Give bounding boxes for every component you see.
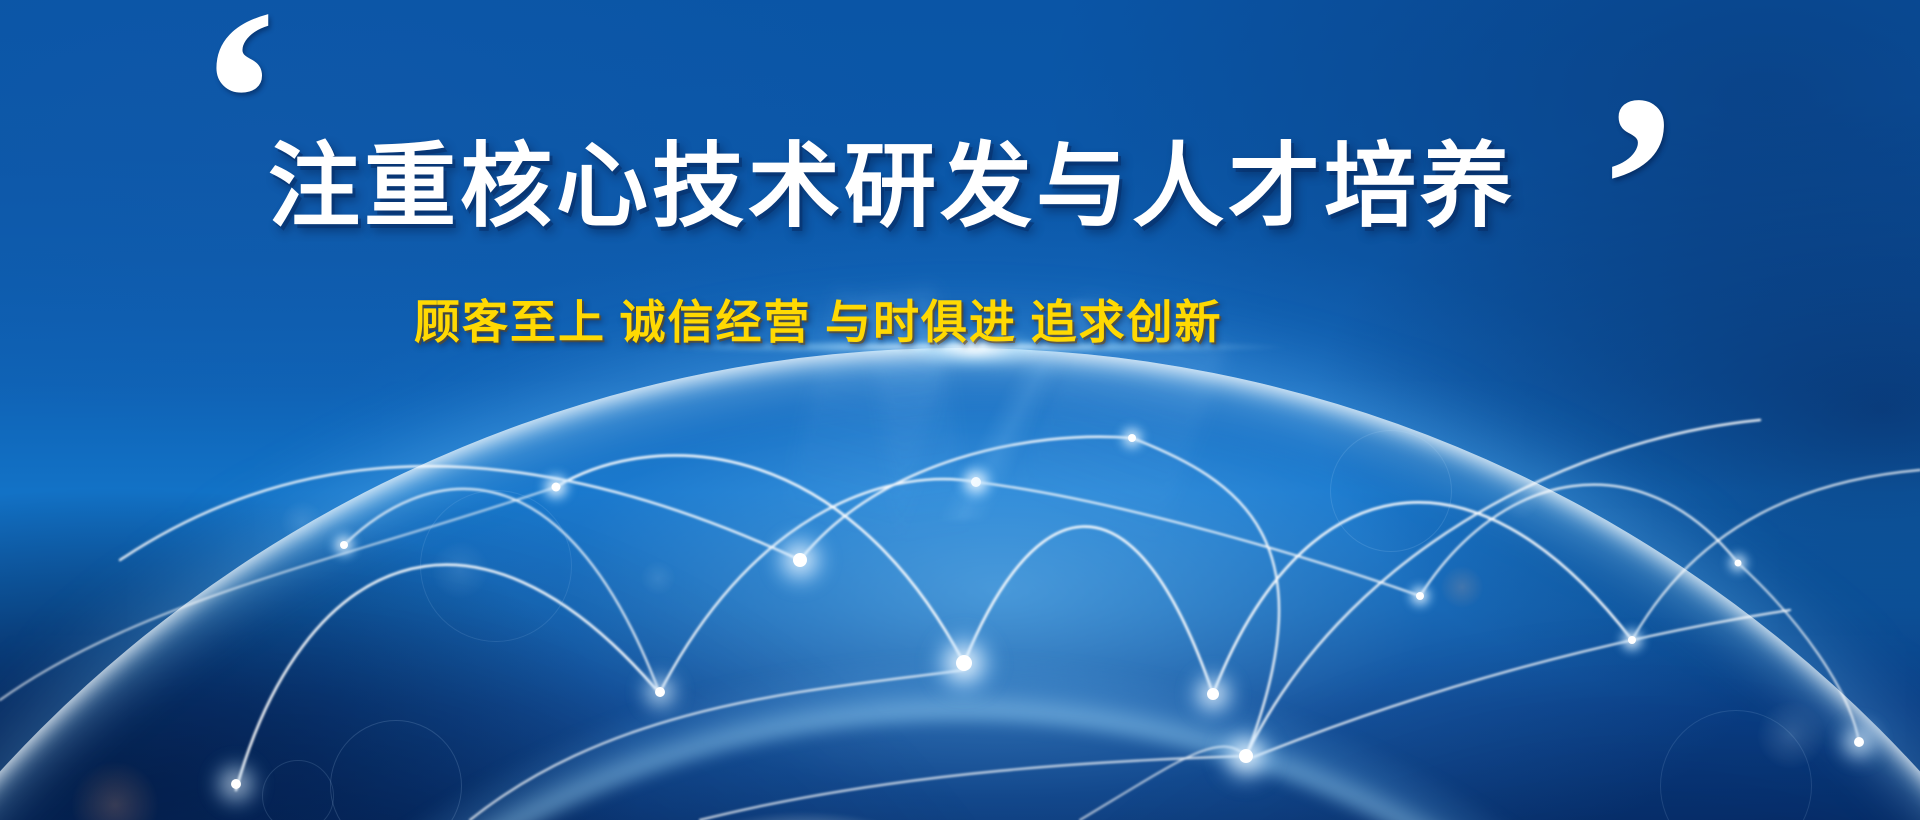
closing-quote-icon: ’ bbox=[1596, 56, 1683, 316]
promo-banner: ‘ 注重核心技术研发与人才培养 ’ 顾客至上 诚信经营 与时俱进 追求创新 bbox=[0, 0, 1920, 820]
slogan-subtitle: 顾客至上 诚信经营 与时俱进 追求创新 bbox=[414, 286, 1223, 352]
page-title: 注重核心技术研发与人才培养 bbox=[268, 112, 1516, 245]
